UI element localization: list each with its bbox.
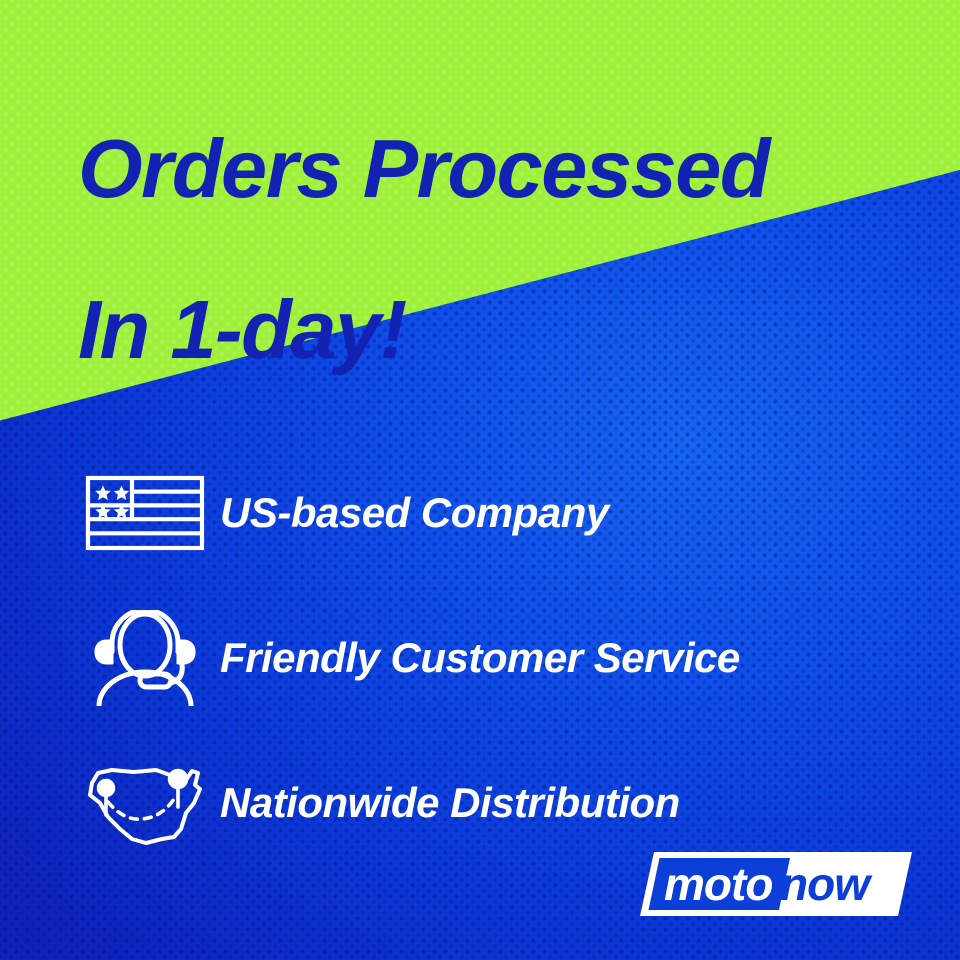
feature-item-customer-service: Friendly Customer Service	[70, 585, 930, 730]
logo-text-now: now	[780, 858, 873, 910]
promo-poster: Orders Processed In 1-day!	[0, 0, 960, 960]
motonow-logo: moto now	[640, 848, 912, 920]
headset-agent-icon	[70, 608, 220, 708]
feature-list: US-based Company	[70, 440, 930, 875]
us-map-route-icon	[70, 753, 220, 853]
us-flag-icon	[70, 463, 220, 563]
headline-line-1: Orders Processed	[78, 129, 938, 210]
feature-label: US-based Company	[220, 492, 609, 534]
feature-label: Friendly Customer Service	[220, 637, 740, 679]
feature-label: Nationwide Distribution	[220, 782, 680, 824]
headline: Orders Processed In 1-day!	[78, 48, 938, 451]
headline-line-2: In 1-day!	[78, 290, 938, 371]
feature-item-us-based: US-based Company	[70, 440, 930, 585]
logo-text-moto: moto	[664, 858, 772, 910]
